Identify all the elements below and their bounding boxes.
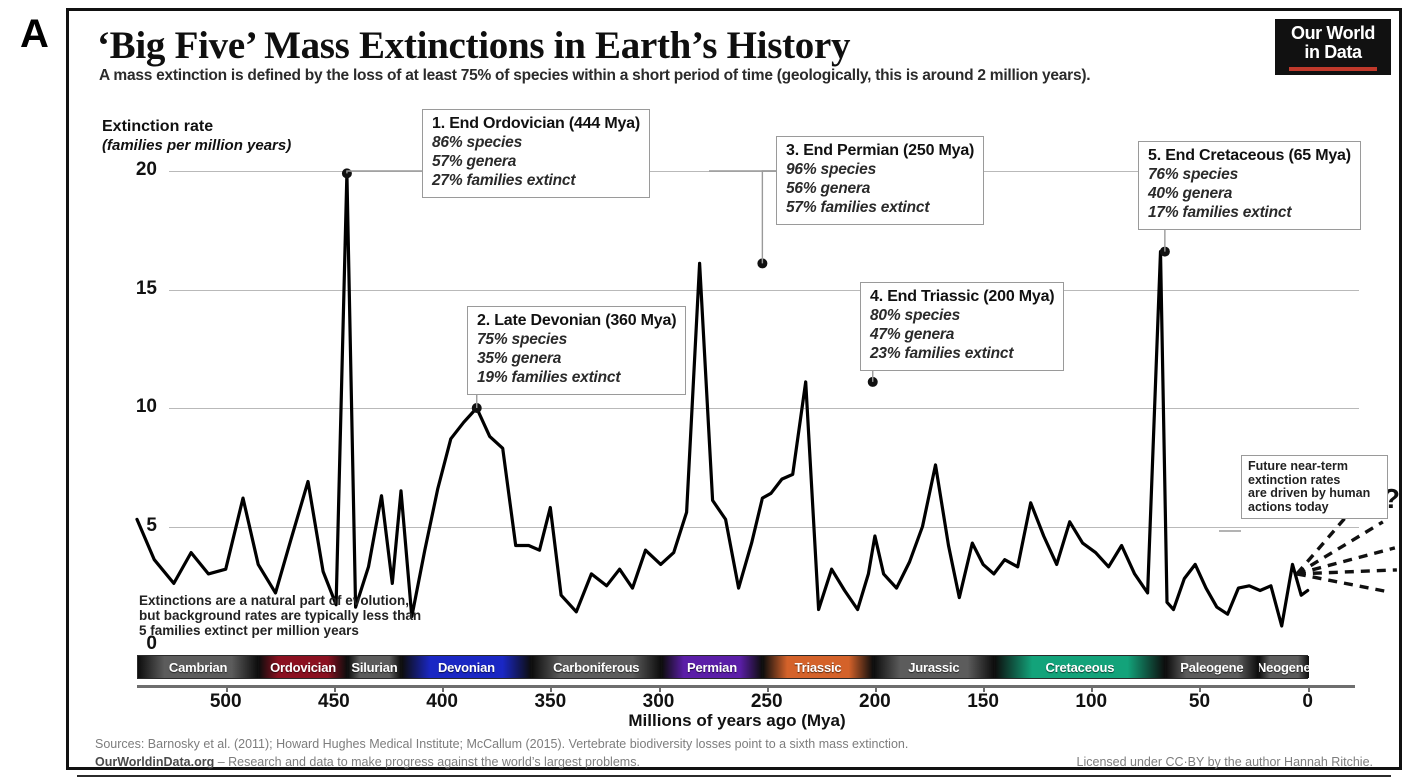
annotation-line-families: 57% families extinct bbox=[786, 199, 974, 217]
annotation-line-families: 27% families extinct bbox=[432, 172, 640, 190]
annotation-line-families: 19% families extinct bbox=[477, 369, 676, 387]
period-label: Devonian bbox=[438, 660, 495, 675]
figure-frame: ‘Big Five’ Mass Extinctions in Earth’s H… bbox=[66, 8, 1402, 770]
x-axis-tick-label: 400 bbox=[412, 691, 472, 713]
period-jurassic[interactable]: Jurassic bbox=[874, 656, 995, 678]
x-axis-tick-label: 300 bbox=[629, 691, 689, 713]
annotation-box-end-permian[interactable]: 3. End Permian (250 Mya) 96% species 56%… bbox=[776, 136, 984, 225]
future-projection-ray-5 bbox=[1297, 574, 1389, 592]
annotation-box-end-cretaceous[interactable]: 5. End Cretaceous (65 Mya) 76% species 4… bbox=[1138, 141, 1361, 230]
period-label: Permian bbox=[687, 660, 737, 675]
annotation-line-families: 17% families extinct bbox=[1148, 204, 1351, 222]
annotation-line-species: 96% species bbox=[786, 161, 974, 179]
annotation-title: 1. End Ordovician (444 Mya) bbox=[432, 115, 640, 133]
period-cretaceous[interactable]: Cretaceous bbox=[995, 656, 1166, 678]
period-label: Silurian bbox=[351, 660, 397, 675]
footer-sources: Sources: Barnosky et al. (2011); Howard … bbox=[95, 737, 908, 751]
footer-brand[interactable]: OurWorldinData.org bbox=[95, 755, 214, 769]
leader-line-end-ordovician bbox=[347, 171, 422, 173]
x-axis-tick-mark bbox=[550, 685, 552, 692]
x-axis-tick-mark bbox=[1308, 685, 1310, 692]
x-axis-line bbox=[137, 685, 1355, 688]
annotation-line-species: 86% species bbox=[432, 134, 640, 152]
period-label: Neogene bbox=[1259, 660, 1309, 675]
figure-root: A ‘Big Five’ Mass Extinctions in Earth’s… bbox=[0, 0, 1412, 778]
annotation-box-end-ordovician[interactable]: 1. End Ordovician (444 Mya) 86% species … bbox=[422, 109, 650, 198]
period-devonian[interactable]: Devonian bbox=[402, 656, 532, 678]
future-projection-note[interactable]: Future near-term extinction rates are dr… bbox=[1241, 455, 1388, 519]
period-triassic[interactable]: Triassic bbox=[763, 656, 873, 678]
period-ordovician[interactable]: Ordovician bbox=[259, 656, 348, 678]
extinction-rate-line bbox=[137, 173, 1308, 626]
footer-rule bbox=[77, 775, 1391, 777]
x-axis-tick-label: 50 bbox=[1169, 691, 1229, 713]
future-projection-ray-4 bbox=[1297, 570, 1397, 574]
geologic-period-bar: CambrianOrdovicianSilurianDevonianCarbon… bbox=[137, 655, 1308, 679]
annotation-line-genera: 56% genera bbox=[786, 180, 974, 198]
period-label: Cretaceous bbox=[1045, 660, 1114, 675]
period-label: Ordovician bbox=[270, 660, 336, 675]
annotation-line-families: 23% families extinct bbox=[870, 345, 1054, 363]
plot-area: 20151050 ? CambrianOrdovicianSilurianDev… bbox=[69, 11, 1405, 773]
period-label: Triassic bbox=[795, 660, 842, 675]
annotation-line-species: 76% species bbox=[1148, 166, 1351, 184]
x-axis-tick-label: 0 bbox=[1278, 691, 1338, 713]
footer-brand-row: OurWorldinData.org – Research and data t… bbox=[95, 755, 640, 769]
period-label: Cambrian bbox=[169, 660, 227, 675]
footer-tagline: – Research and data to make progress aga… bbox=[218, 755, 640, 769]
x-axis-tick-label: 100 bbox=[1061, 691, 1121, 713]
annotation-line-genera: 35% genera bbox=[477, 350, 676, 368]
x-axis-tick-mark bbox=[1199, 685, 1201, 692]
period-label: Carboniferous bbox=[553, 660, 639, 675]
period-label: Paleogene bbox=[1180, 660, 1243, 675]
background-note-line-2: but background rates are typically less … bbox=[139, 608, 421, 623]
background-note-line-1: Extinctions are a natural part of evolut… bbox=[139, 593, 421, 608]
background-note-line-3: 5 families extinct per million years bbox=[139, 623, 421, 638]
x-axis-tick-mark bbox=[1091, 685, 1093, 692]
x-axis-title: Millions of years ago (Mya) bbox=[69, 711, 1405, 731]
annotation-line-genera: 47% genera bbox=[870, 326, 1054, 344]
x-axis-tick-mark bbox=[983, 685, 985, 692]
future-projection-ray-2 bbox=[1297, 522, 1383, 574]
future-note-line-1: Future near-term bbox=[1248, 460, 1381, 474]
x-axis-tick-mark bbox=[442, 685, 444, 692]
annotation-box-end-triassic[interactable]: 4. End Triassic (200 Mya) 80% species 47… bbox=[860, 282, 1064, 371]
x-axis-tick-mark bbox=[659, 685, 661, 692]
annotation-line-genera: 57% genera bbox=[432, 153, 640, 171]
x-axis-tick-label: 200 bbox=[845, 691, 905, 713]
annotation-title: 3. End Permian (250 Mya) bbox=[786, 142, 974, 160]
future-note-line-4: actions today bbox=[1248, 501, 1381, 515]
x-axis-tick-mark bbox=[875, 685, 877, 692]
x-axis-tick-mark bbox=[226, 685, 228, 692]
annotation-title: 2. Late Devonian (360 Mya) bbox=[477, 312, 676, 330]
annotation-box-late-devonian[interactable]: 2. Late Devonian (360 Mya) 75% species 3… bbox=[467, 306, 686, 395]
period-silurian[interactable]: Silurian bbox=[348, 656, 402, 678]
x-axis-tick-mark bbox=[767, 685, 769, 692]
x-axis-tick-label: 250 bbox=[737, 691, 797, 713]
period-carboniferous[interactable]: Carboniferous bbox=[532, 656, 662, 678]
x-axis-tick-label: 500 bbox=[196, 691, 256, 713]
period-paleogene[interactable]: Paleogene bbox=[1166, 656, 1259, 678]
annotation-line-species: 75% species bbox=[477, 331, 676, 349]
annotation-title: 4. End Triassic (200 Mya) bbox=[870, 288, 1054, 306]
x-axis-tick-label: 350 bbox=[520, 691, 580, 713]
period-cambrian[interactable]: Cambrian bbox=[138, 656, 259, 678]
leader-line-end-permian bbox=[762, 171, 776, 263]
background-rate-note: Extinctions are a natural part of evolut… bbox=[139, 593, 421, 638]
footer-license: Licensed under CC·BY by the author Hanna… bbox=[1077, 755, 1373, 769]
x-axis-tick-mark bbox=[334, 685, 336, 692]
x-axis-tick-label: 450 bbox=[304, 691, 364, 713]
future-note-line-2: extinction rates bbox=[1248, 474, 1381, 488]
annotation-line-species: 80% species bbox=[870, 307, 1054, 325]
annotation-title: 5. End Cretaceous (65 Mya) bbox=[1148, 147, 1351, 165]
period-label: Jurassic bbox=[908, 660, 959, 675]
period-neogene[interactable]: Neogene bbox=[1259, 656, 1309, 678]
period-permian[interactable]: Permian bbox=[662, 656, 764, 678]
x-axis-tick-label: 150 bbox=[953, 691, 1013, 713]
future-note-line-3: are driven by human bbox=[1248, 487, 1381, 501]
annotation-line-genera: 40% genera bbox=[1148, 185, 1351, 203]
panel-label: A bbox=[20, 14, 49, 54]
